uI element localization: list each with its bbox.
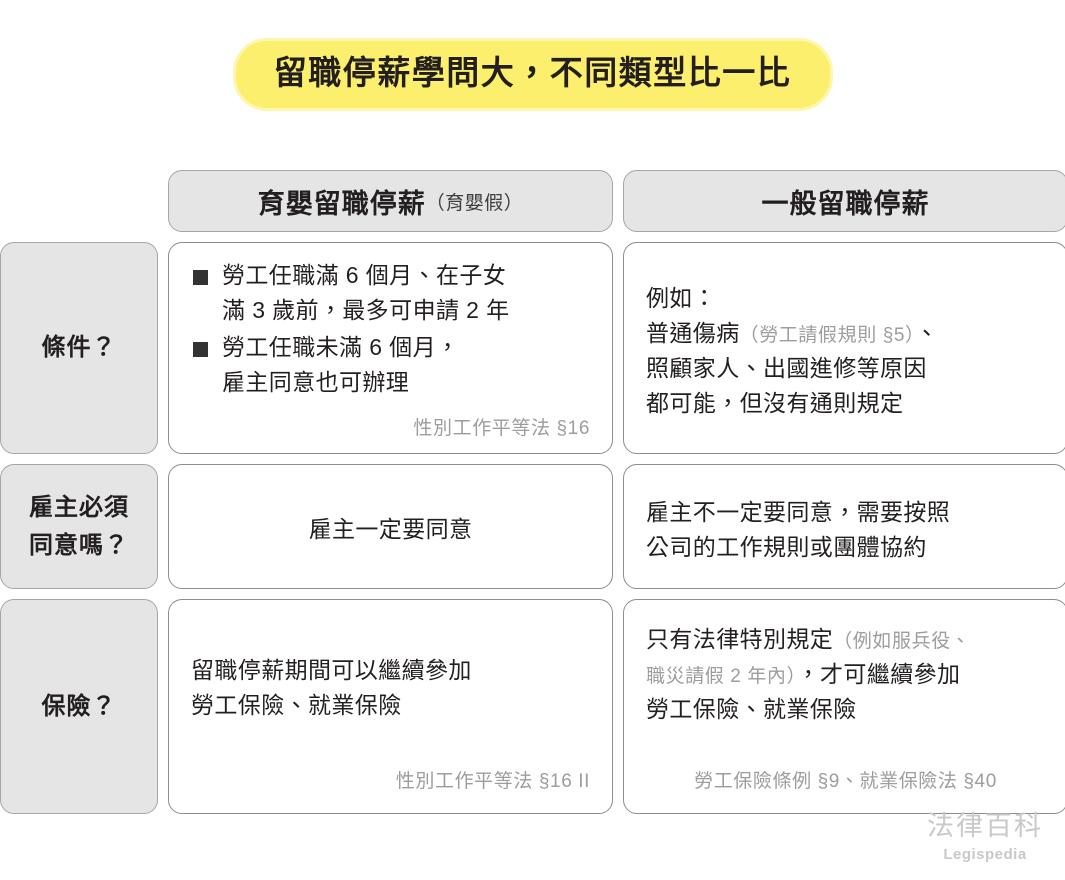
column-header-parental-leave-note: （育嬰假） xyxy=(426,188,524,215)
legal-citation-inline: （勞工請假規則 §5） xyxy=(740,325,916,346)
column-header-general-leave: 一般留職停薪 xyxy=(623,170,1065,232)
legal-citation: 性別工作平等法 §16 II xyxy=(191,768,590,797)
column-header-general-leave-title: 一般留職停薪 xyxy=(762,182,930,221)
row-label-employer-consent-line-1: 雇主必須 xyxy=(29,489,129,526)
cell-insurance-general: 只有法律特別規定（例如服兵役、 職災請假 2 年內），才可繼續參加 勞工保險、就… xyxy=(623,599,1065,814)
insurance-general-line-3: 勞工保險、就業保險 xyxy=(646,692,1045,727)
cell-consent-general: 雇主不一定要同意，需要按照 公司的工作規則或團體協約 xyxy=(623,464,1065,589)
legal-citation: 性別工作平等法 §16 xyxy=(191,415,590,444)
row-label-insurance: 保險？ xyxy=(0,599,158,814)
insurance-parental-line-2: 勞工保險、就業保險 xyxy=(191,688,590,723)
row-label-conditions: 條件？ xyxy=(0,242,158,454)
table-header-row: 育嬰留職停薪（育嬰假） 一般留職停薪 xyxy=(0,170,1065,232)
table-row-conditions: 條件？ 勞工任職滿 6 個月、在子女 滿 3 歲前，最多可申請 2 年 勞工任職… xyxy=(0,242,1065,454)
legal-citation: 勞工保險條例 §9、就業保險法 §40 xyxy=(646,768,1045,797)
page-title: 留職停薪學問大，不同類型比一比 xyxy=(272,54,794,92)
column-header-parental-leave-title: 育嬰留職停薪 xyxy=(258,182,426,221)
table-row-employer-consent: 雇主必須 同意嗎？ 雇主一定要同意 雇主不一定要同意，需要按照 公司的工作規則或… xyxy=(0,464,1065,589)
consent-parental-text: 雇主一定要同意 xyxy=(309,512,473,547)
insurance-general-line-1: 只有法律特別規定（例如服兵役、 xyxy=(646,622,1045,657)
conditions-bullet-list: 勞工任職滿 6 個月、在子女 滿 3 歲前，最多可申請 2 年 勞工任職未滿 6… xyxy=(191,258,590,402)
insurance-general-line-2-text: ，才可繼續參加 xyxy=(797,661,961,687)
insurance-general-line-1-text: 只有法律特別規定 xyxy=(646,626,833,652)
conditions-general-line-2: 普通傷病（勞工請假規則 §5）、 xyxy=(646,316,1045,351)
table-row-insurance: 保險？ 留職停薪期間可以繼續參加 勞工保險、就業保險 性別工作平等法 §16 I… xyxy=(0,599,1065,814)
logo-name-cn: 法律百科 xyxy=(927,813,1043,840)
legal-citation-inline-2: 職災請假 2 年內） xyxy=(646,666,797,687)
title-pill: 留職停薪學問大，不同類型比一比 xyxy=(233,38,833,111)
cell-conditions-parental: 勞工任職滿 6 個月、在子女 滿 3 歲前，最多可申請 2 年 勞工任職未滿 6… xyxy=(168,242,613,454)
insurance-general-line-2: 職災請假 2 年內），才可繼續參加 xyxy=(646,657,1045,692)
insurance-parental-line-1: 留職停薪期間可以繼續參加 xyxy=(191,653,590,688)
conditions-general-line-4: 都可能，但沒有通則規定 xyxy=(646,386,1045,421)
logo-name-en: Legispedia xyxy=(927,847,1043,862)
comparison-table: 育嬰留職停薪（育嬰假） 一般留職停薪 條件？ 勞工任職滿 6 個月、在子女 滿 … xyxy=(0,170,1065,824)
bullet-1-line-2: 滿 3 歲前，最多可申請 2 年 xyxy=(222,293,590,328)
column-header-parental-leave: 育嬰留職停薪（育嬰假） xyxy=(168,170,613,232)
consent-general-line-2: 公司的工作規則或團體協約 xyxy=(646,530,1045,565)
conditions-general-line-2-text: 普通傷病 xyxy=(646,320,740,346)
logo: 法律百科 Legispedia xyxy=(927,813,1043,862)
conditions-general-line-2-tail: 、 xyxy=(915,320,938,346)
title-banner: 留職停薪學問大，不同類型比一比 xyxy=(0,38,1065,111)
bullet-1-line-1: 勞工任職滿 6 個月、在子女 xyxy=(222,258,590,293)
cell-conditions-general: 例如： 普通傷病（勞工請假規則 §5）、 照顧家人、出國進修等原因 都可能，但沒… xyxy=(623,242,1065,454)
cell-consent-parental: 雇主一定要同意 xyxy=(168,464,613,589)
legal-citation-inline: （例如服兵役、 xyxy=(833,631,970,652)
list-item: 勞工任職未滿 6 個月， 雇主同意也可辦理 xyxy=(191,330,590,400)
row-label-employer-consent: 雇主必須 同意嗎？ xyxy=(0,464,158,589)
conditions-general-line-3: 照顧家人、出國進修等原因 xyxy=(646,351,1045,386)
bullet-2-line-1: 勞工任職未滿 6 個月， xyxy=(222,330,590,365)
consent-general-line-1: 雇主不一定要同意，需要按照 xyxy=(646,495,1045,530)
bullet-2-line-2: 雇主同意也可辦理 xyxy=(222,365,590,400)
conditions-general-line-1: 例如： xyxy=(646,281,1045,316)
list-item: 勞工任職滿 6 個月、在子女 滿 3 歲前，最多可申請 2 年 xyxy=(191,258,590,328)
row-label-employer-consent-line-2: 同意嗎？ xyxy=(29,527,129,564)
cell-insurance-parental: 留職停薪期間可以繼續參加 勞工保險、就業保險 性別工作平等法 §16 II xyxy=(168,599,613,814)
